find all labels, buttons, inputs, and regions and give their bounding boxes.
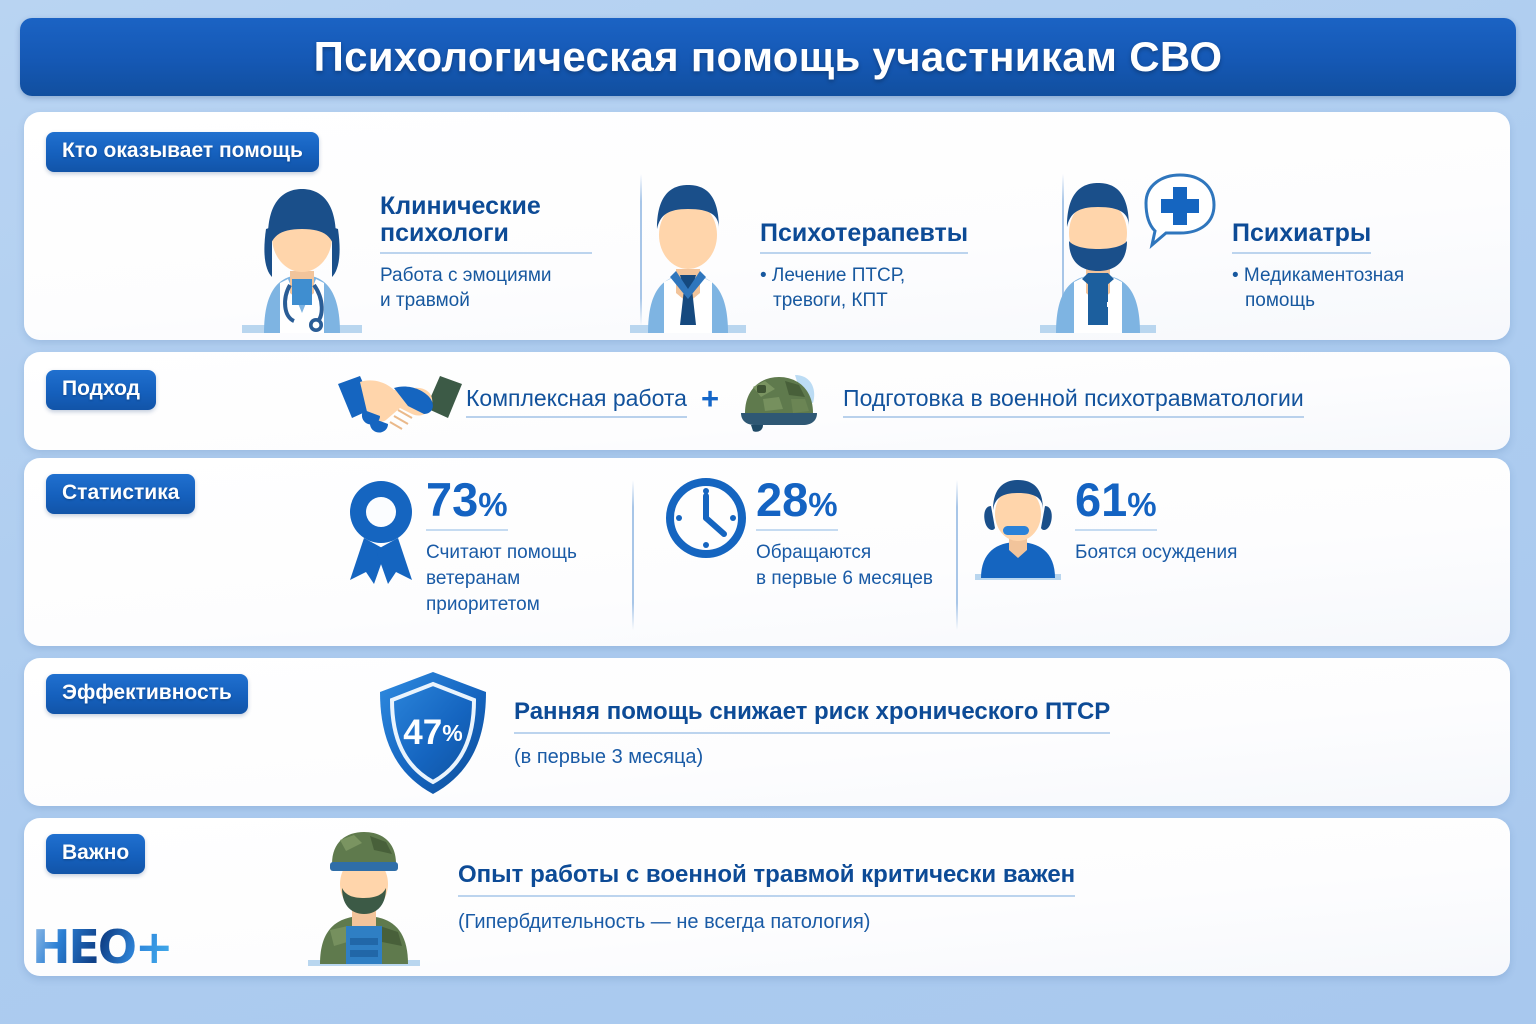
page-title-bar: Психологическая помощь участникам СВО — [20, 18, 1516, 96]
important-main-text: Опыт работы с военной травмой критически… — [458, 861, 1075, 897]
section-card-providers: Кто оказывает помощь — [24, 112, 1510, 340]
award-ribbon-icon — [344, 476, 418, 588]
brand-logo: НЕО+ — [32, 920, 172, 974]
provider-title: Психиатры — [1232, 220, 1371, 254]
stat-label: Обращаются в первые 6 месяцев — [756, 540, 933, 592]
provider-title: Психотерапевты — [760, 220, 968, 254]
provider-desc: Работа с эмоциями и травмой — [380, 263, 592, 313]
provider-item: Клинические психологи Работа с эмоциями … — [232, 160, 592, 335]
provider-item: Психотерапевты • Лечение ПТСР, тревоги, … — [624, 160, 1002, 335]
stat-item: 61% Боятся осуждения — [969, 476, 1237, 582]
person-headset-icon — [969, 476, 1067, 582]
shield-icon: 47% — [374, 670, 492, 796]
military-helmet-icon — [733, 369, 829, 433]
section-badge-important: Важно — [46, 834, 145, 874]
provider-title: Клинические психологи — [380, 193, 592, 254]
page-title: Психологическая помощь участникам СВО — [314, 33, 1223, 81]
section-card-effectiveness: Эффективность 47% Ранняя помощь снижает … — [24, 658, 1510, 806]
shield-value: 47 — [403, 713, 442, 753]
approach-row: Комплексная работа + Подготовка в военно… — [334, 352, 1304, 450]
statistics-row: 73% Считают помощь ветеранам приоритетом… — [24, 476, 1510, 646]
provider-desc: • Лечение ПТСР, тревоги, КПТ — [760, 263, 968, 313]
stat-label: Боятся осуждения — [1075, 540, 1237, 566]
effectiveness-main-text: Ранняя помощь снижает риск хронического … — [514, 698, 1110, 734]
approach-left-label: Комплексная работа — [466, 385, 687, 418]
bearded-psychiatrist-avatar-icon — [1034, 167, 1224, 335]
section-badge-approach: Подход — [46, 370, 156, 410]
providers-row: Клинические психологи Работа с эмоциями … — [24, 160, 1510, 335]
important-row: Опыт работы с военной травмой критически… — [294, 826, 1075, 968]
female-psychologist-avatar-icon — [232, 167, 372, 335]
stat-value: 73% — [426, 476, 508, 531]
section-card-important: Важно Опыт работы с военно — [24, 818, 1510, 976]
provider-desc: • Медикаментозная помощь — [1232, 263, 1405, 313]
approach-right-label: Подготовка в военной психотравматологии — [843, 385, 1304, 418]
stat-item: 73% Считают помощь ветеранам приоритетом — [344, 476, 577, 619]
effectiveness-sub-text: (в первые 3 месяца) — [514, 746, 1110, 769]
shield-unit: % — [442, 720, 462, 747]
plus-icon: + — [701, 381, 719, 421]
handshake-icon — [334, 366, 466, 436]
stat-value: 28% — [756, 476, 838, 531]
stat-value: 61% — [1075, 476, 1157, 531]
stat-label: Считают помощь ветеранам приоритетом — [426, 540, 577, 619]
clock-icon — [664, 476, 748, 560]
important-sub-text: (Гипербдительность — не всегда патология… — [458, 911, 1075, 934]
stat-item: 28% Обращаются в первые 6 месяцев — [664, 476, 933, 592]
soldier-avatar-icon — [294, 826, 434, 968]
effectiveness-row: 47% Ранняя помощь снижает риск хроническ… — [374, 670, 1110, 796]
provider-item: Психиатры • Медикаментозная помощь — [1034, 160, 1454, 335]
section-card-statistics: Статистика 73% Считают помощь ветеранам … — [24, 458, 1510, 646]
section-card-approach: Подход Комплексная работа + — [24, 352, 1510, 450]
male-therapist-avatar-icon — [624, 167, 752, 335]
section-badge-effectiveness: Эффективность — [46, 674, 248, 714]
